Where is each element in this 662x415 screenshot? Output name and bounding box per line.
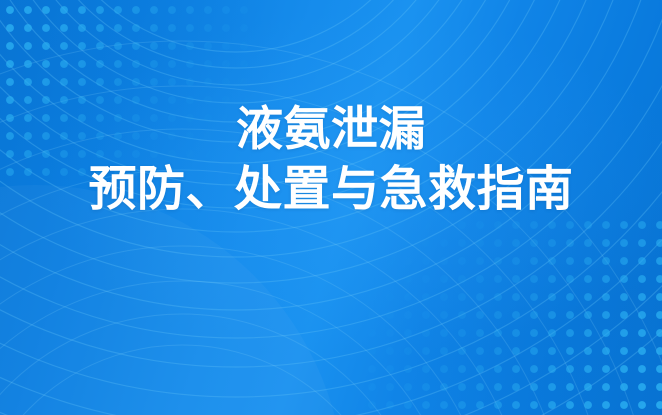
presentation-cover-banner: 液氨泄漏 预防、处置与急救指南 <box>0 0 662 415</box>
cover-title-line-1: 液氨泄漏 <box>0 98 662 159</box>
cover-title-block: 液氨泄漏 预防、处置与急救指南 <box>0 98 662 221</box>
cover-title-line-2: 预防、处置与急救指南 <box>0 159 662 221</box>
